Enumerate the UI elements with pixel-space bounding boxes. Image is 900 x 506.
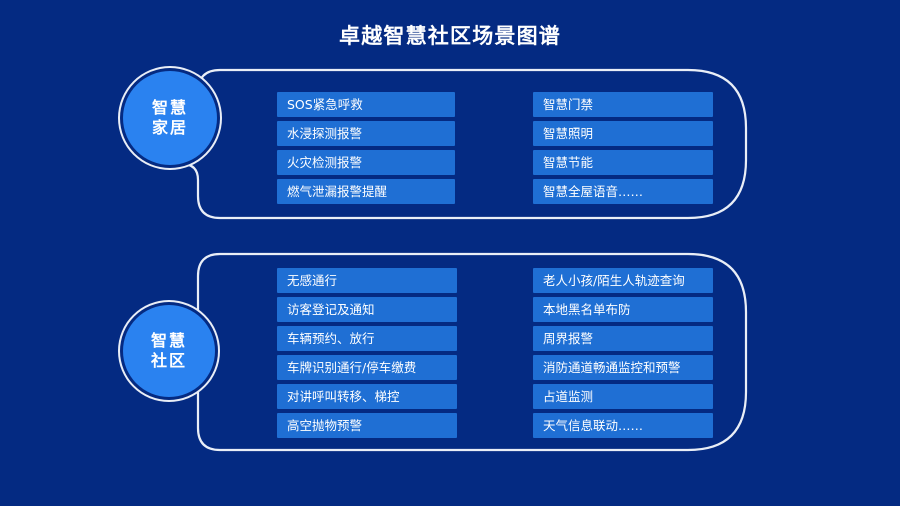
pill-column-smart-community-2: 老人小孩/陌生人轨迹查询 本地黑名单布防 周界报警 消防通道畅通监控和预警 占道…	[533, 268, 713, 438]
pill-item[interactable]: SOS紧急呼救	[277, 92, 455, 117]
pill-column-smart-community-1: 无感通行 访客登记及通知 车辆预约、放行 车牌识别通行/停车缴费 对讲呼叫转移、…	[277, 268, 457, 438]
group-circle-smart-community[interactable]: 智慧 社区	[123, 305, 215, 397]
pill-item[interactable]: 天气信息联动……	[533, 413, 713, 438]
pill-item[interactable]: 车辆预约、放行	[277, 326, 457, 351]
pill-item[interactable]: 对讲呼叫转移、梯控	[277, 384, 457, 409]
pill-item[interactable]: 智慧节能	[533, 150, 713, 175]
page-title: 卓越智慧社区场景图谱	[0, 22, 900, 50]
pill-item[interactable]: 消防通道畅通监控和预警	[533, 355, 713, 380]
pill-column-smart-home-2: 智慧门禁 智慧照明 智慧节能 智慧全屋语音……	[533, 92, 713, 204]
pill-item[interactable]: 燃气泄漏报警提醒	[277, 179, 455, 204]
pill-item[interactable]: 智慧全屋语音……	[533, 179, 713, 204]
pill-item[interactable]: 火灾检测报警	[277, 150, 455, 175]
pill-item[interactable]: 车牌识别通行/停车缴费	[277, 355, 457, 380]
pill-item[interactable]: 本地黑名单布防	[533, 297, 713, 322]
group-circle-label-line1: 智慧	[151, 331, 187, 351]
group-circle-label-line2: 社区	[151, 351, 187, 371]
pill-item[interactable]: 访客登记及通知	[277, 297, 457, 322]
group-circle-label-line2: 家居	[152, 118, 188, 138]
pill-column-smart-home-1: SOS紧急呼救 水浸探测报警 火灾检测报警 燃气泄漏报警提醒	[277, 92, 455, 204]
pill-item[interactable]: 智慧门禁	[533, 92, 713, 117]
pill-item[interactable]: 无感通行	[277, 268, 457, 293]
pill-item[interactable]: 高空抛物预警	[277, 413, 457, 438]
group-smart-community: 智慧 社区 无感通行 访客登记及通知 车辆预约、放行 车牌识别通行/停车缴费 对…	[168, 252, 748, 452]
group-circle-label-line1: 智慧	[152, 98, 188, 118]
pill-item[interactable]: 老人小孩/陌生人轨迹查询	[533, 268, 713, 293]
group-smart-home: 智慧 家居 SOS紧急呼救 水浸探测报警 火灾检测报警 燃气泄漏报警提醒 智慧门…	[168, 68, 748, 220]
slide-canvas: 卓越智慧社区场景图谱 智慧 家居 SOS紧急呼救 水浸探测报警 火灾检测报警 燃…	[0, 0, 900, 506]
pill-item[interactable]: 周界报警	[533, 326, 713, 351]
pill-item[interactable]: 智慧照明	[533, 121, 713, 146]
pill-item[interactable]: 水浸探测报警	[277, 121, 455, 146]
pill-item[interactable]: 占道监测	[533, 384, 713, 409]
group-circle-smart-home[interactable]: 智慧 家居	[123, 71, 217, 165]
